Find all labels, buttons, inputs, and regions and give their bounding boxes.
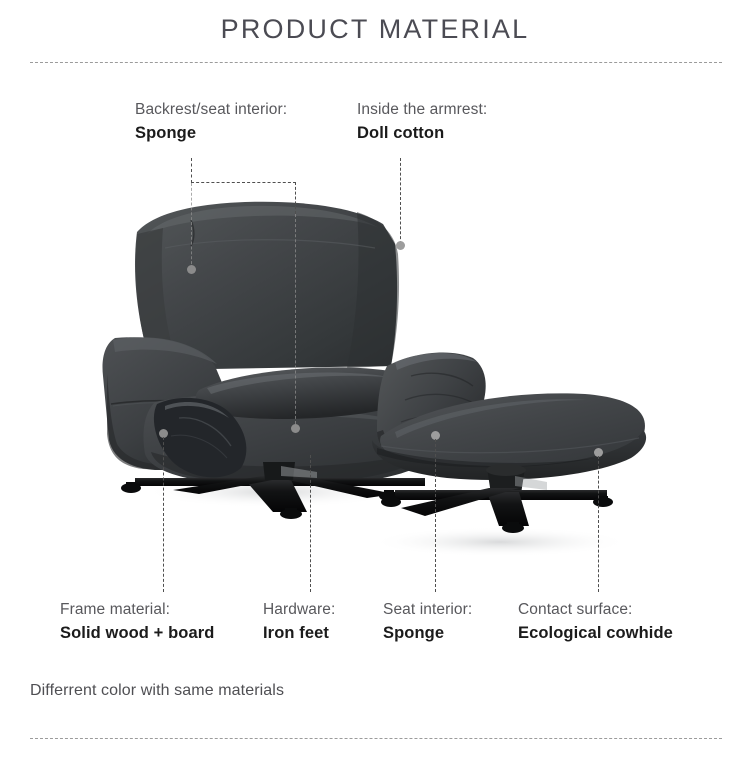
leader-line-armrest	[400, 158, 401, 244]
callout-label: Inside the armrest:	[357, 100, 487, 120]
footer-note: Differrent color with same materials	[30, 682, 284, 700]
callout-backrest-seat-interior: Backrest/seat interior: Sponge	[135, 100, 287, 145]
leader-line-contact-surface	[598, 456, 599, 592]
callout-label: Frame material:	[60, 600, 214, 620]
ottoman-star-base	[381, 488, 613, 533]
callout-label: Contact surface:	[518, 600, 673, 620]
callout-seat-interior: Seat interior: Sponge	[383, 600, 472, 645]
callout-label: Hardware:	[263, 600, 335, 620]
leader-line-backrest-bridge	[191, 182, 296, 183]
callout-value: Iron feet	[263, 622, 335, 645]
callout-contact-surface: Contact surface: Ecological cowhide	[518, 600, 673, 645]
callout-value: Sponge	[383, 622, 472, 645]
product-material-infographic: PRODUCT MATERIAL	[0, 0, 750, 760]
leader-line-hardware	[310, 455, 311, 592]
callout-value: Ecological cowhide	[518, 622, 673, 645]
callout-value: Sponge	[135, 122, 287, 145]
leader-dot-armrest	[396, 241, 405, 250]
callout-label: Backrest/seat interior:	[135, 100, 287, 120]
leader-line-backrest-upper	[191, 158, 192, 183]
callout-hardware: Hardware: Iron feet	[263, 600, 335, 645]
callout-inside-the-armrest: Inside the armrest: Doll cotton	[357, 100, 487, 145]
leader-line-seat-interior-bottom	[435, 439, 436, 592]
page-title: PRODUCT MATERIAL	[0, 14, 750, 45]
product-image	[95, 190, 665, 570]
leader-line-backrest-tail	[191, 183, 192, 269]
leader-dot-seat-interior	[291, 424, 300, 433]
callout-value: Doll cotton	[357, 122, 487, 145]
leader-line-frame-material	[163, 437, 164, 592]
ottoman-floor-shadow	[370, 527, 630, 557]
divider-bottom	[30, 738, 722, 739]
leader-line-seat-interior-tail	[295, 214, 296, 429]
callout-frame-material: Frame material: Solid wood + board	[60, 600, 214, 645]
leader-line-seat-interior-upper	[295, 182, 296, 214]
leader-dot-backrest	[187, 265, 196, 274]
divider-top	[30, 62, 722, 63]
callout-label: Seat interior:	[383, 600, 472, 620]
callout-value: Solid wood + board	[60, 622, 214, 645]
